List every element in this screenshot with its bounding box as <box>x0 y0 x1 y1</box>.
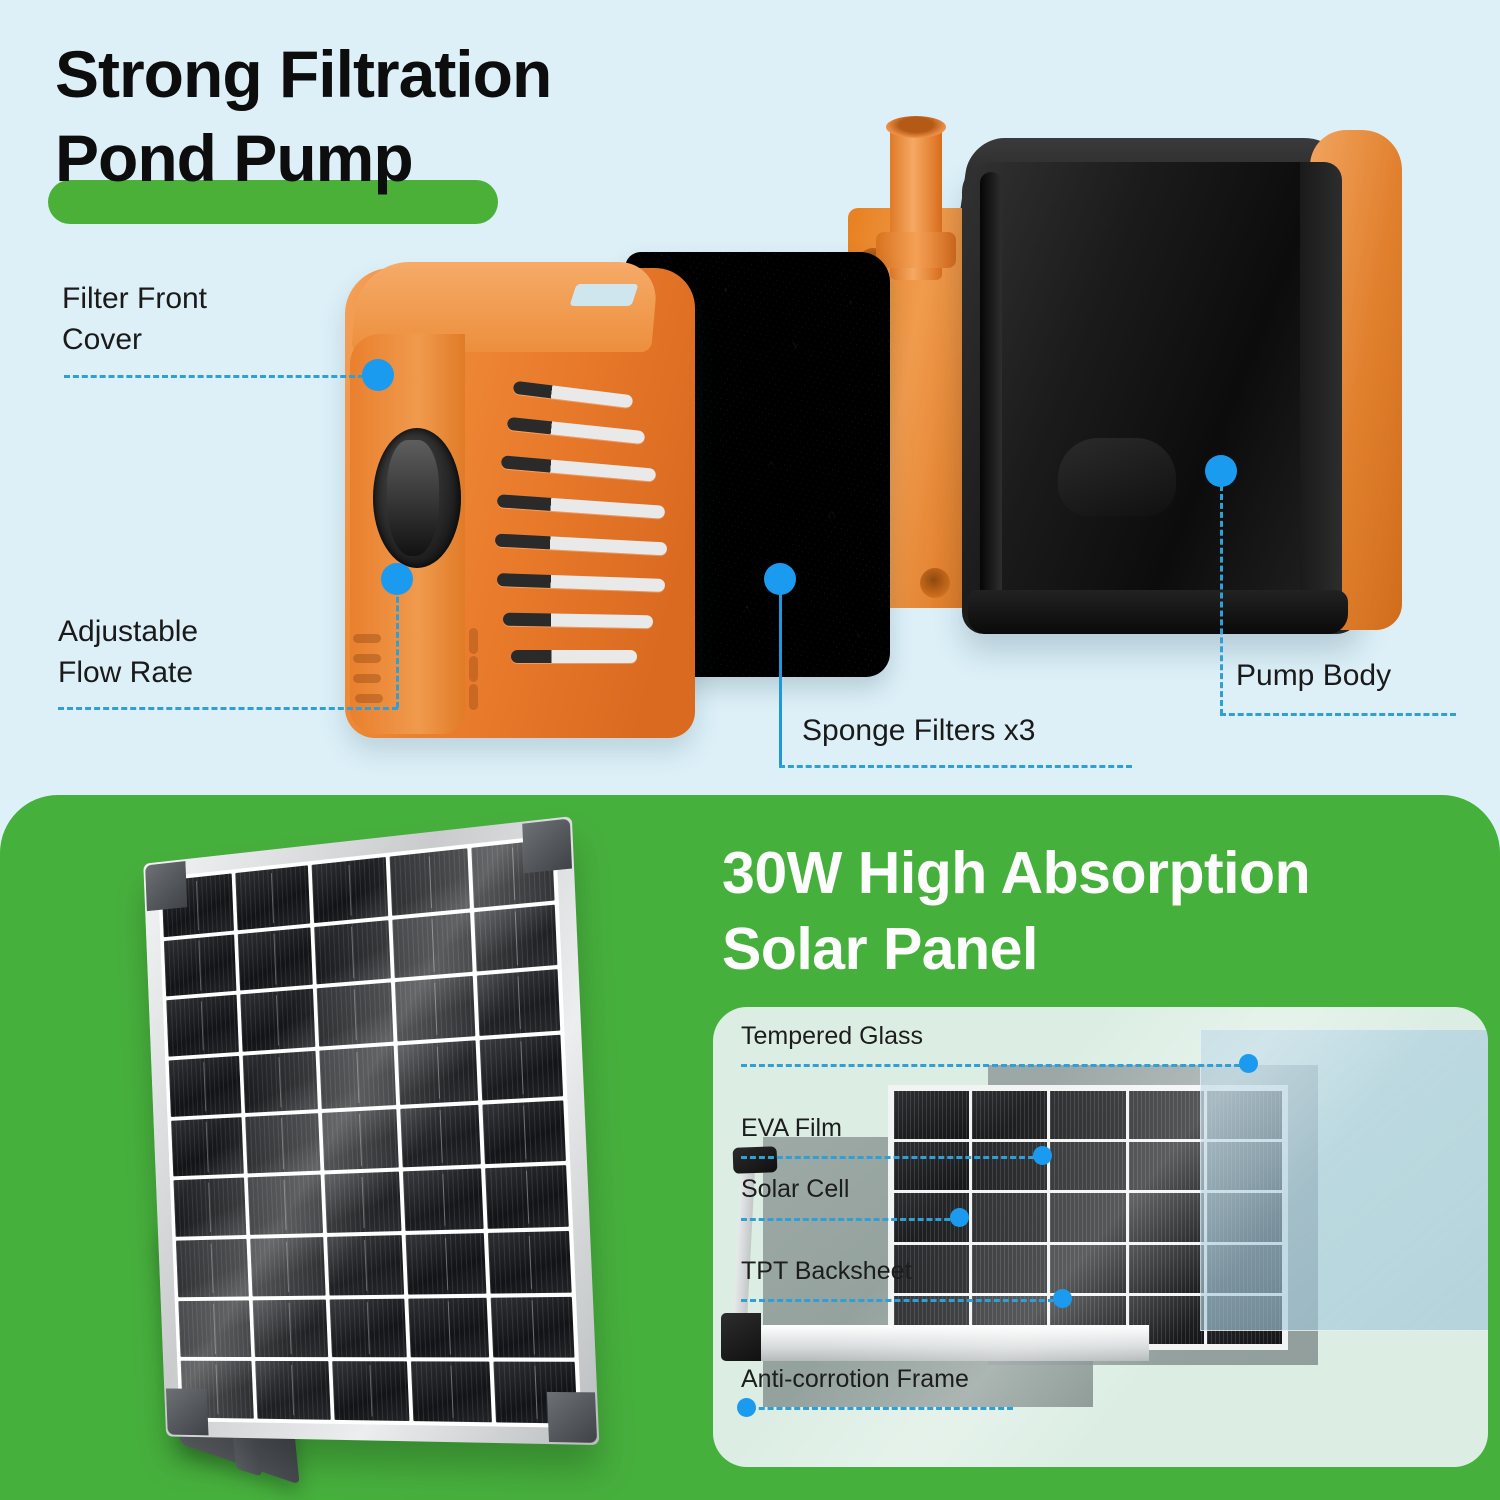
callout-line-sponge-filters-h <box>779 765 1132 768</box>
pump-base-foot <box>968 590 1348 634</box>
layer-line-anti-corrosion-frame <box>741 1407 1013 1410</box>
cover-vent-slots <box>475 388 680 688</box>
callout-dot-adjustable-flow-rate <box>381 563 413 595</box>
callout-line-adjustable-flow-rate-v <box>396 588 399 708</box>
callout-line-adjustable-flow-rate-h <box>58 707 398 710</box>
layer-label-solar-cell: Solar Cell <box>741 1175 849 1204</box>
layer-label-tempered-glass: Tempered Glass <box>741 1022 923 1051</box>
pump-side-recess <box>1058 438 1176 516</box>
pump-strap-inner-shadow <box>1300 162 1342 632</box>
callout-line-filter-front-cover <box>64 375 364 378</box>
callout-label-adjustable-flow-rate: Adjustable Flow Rate <box>58 611 198 693</box>
cover-grip-ridges <box>353 628 473 738</box>
callout-line-pump-body-h <box>1220 713 1456 716</box>
solar-panel-face <box>143 816 599 1445</box>
solar-title-line-2: Solar Panel <box>722 911 1482 987</box>
layer-label-eva-film: EVA Film <box>741 1114 842 1143</box>
panel-corner-tr <box>522 818 572 873</box>
panel-corner-br <box>547 1392 597 1443</box>
solar-title-line-1: 30W High Absorption <box>722 835 1482 911</box>
cover-notch <box>569 284 638 306</box>
layer-dot-tempered-glass <box>1239 1054 1258 1073</box>
layer-dot-eva-film <box>1033 1146 1052 1165</box>
solar-panel-product <box>95 820 655 1490</box>
solar-section-title: 30W High Absorption Solar Panel <box>722 835 1482 987</box>
callout-dot-sponge-filters <box>764 563 796 595</box>
layer-dot-solar-cell <box>950 1208 969 1227</box>
callout-label-pump-body: Pump Body <box>1236 655 1391 696</box>
pump-screw-bottom <box>920 568 950 598</box>
layer-frame-corner-bracket <box>721 1313 761 1361</box>
callout-dot-pump-body <box>1205 455 1237 487</box>
layer-line-tempered-glass <box>741 1064 1249 1067</box>
solar-cell-grid <box>158 835 582 1428</box>
layer-line-eva-film <box>741 1156 1043 1159</box>
layer-dot-tpt-backsheet <box>1053 1289 1072 1308</box>
layer-tempered-glass <box>1200 1029 1488 1331</box>
layer-label-anti-corrosion-frame: Anti-corrotion Frame <box>741 1365 969 1394</box>
callout-line-sponge-filters-v <box>779 588 782 766</box>
layer-dot-anti-corrosion-frame <box>737 1398 756 1417</box>
solar-layer-diagram-card: Tempered Glass EVA Film Solar Cell TPT B… <box>713 1007 1488 1467</box>
callout-line-pump-body-v <box>1220 485 1223 715</box>
flow-dial-knob <box>387 440 439 556</box>
pump-body-product <box>812 120 1402 640</box>
pump-outlet-collar <box>876 232 956 268</box>
callout-label-sponge-filters: Sponge Filters x3 <box>802 710 1035 751</box>
product-infographic: Strong Filtration Pond Pump <box>0 0 1500 1500</box>
pump-outlet-rim <box>886 116 946 138</box>
pump-section: Strong Filtration Pond Pump <box>0 0 1500 800</box>
callout-label-filter-front-cover: Filter Front Cover <box>62 278 207 360</box>
callout-dot-filter-front-cover <box>362 359 394 391</box>
pump-title-line-2: Pond Pump <box>55 116 815 200</box>
panel-corner-bl <box>166 1388 209 1435</box>
solar-panel-glass <box>158 835 582 1428</box>
solar-panel-section: 30W High Absorption Solar Panel <box>0 795 1500 1500</box>
layer-label-tpt-backsheet: TPT Backsheet <box>741 1257 911 1286</box>
panel-corner-tl <box>145 861 187 911</box>
layer-line-tpt-backsheet <box>741 1299 1063 1302</box>
layer-frame-upper-bracket <box>733 1146 778 1174</box>
pump-title-line-1: Strong Filtration <box>55 32 815 116</box>
pump-section-title: Strong Filtration Pond Pump <box>55 32 815 200</box>
pump-front-edge <box>980 172 1002 624</box>
layer-anti-corrosion-frame <box>729 1325 1149 1361</box>
layer-line-solar-cell <box>741 1218 959 1221</box>
